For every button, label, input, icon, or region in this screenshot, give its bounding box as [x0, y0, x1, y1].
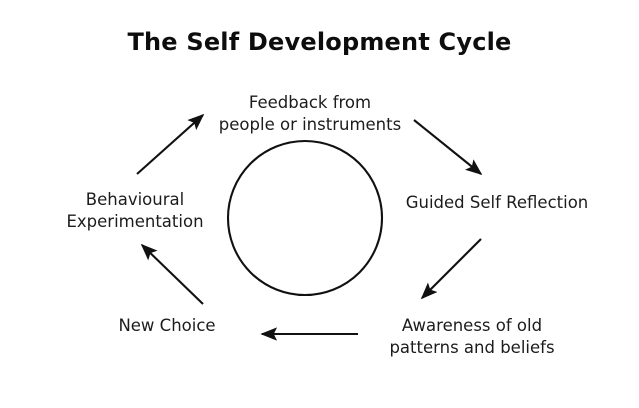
node-label-behavioural-experimentation-line1: Behavioural	[45, 189, 225, 211]
node-label-guided-self-reflection: Guided Self Reflection	[377, 192, 617, 214]
node-label-behavioural-experimentation: Behavioural Experimentation	[45, 189, 225, 233]
arrow-newchoice-to-behavioural	[142, 245, 203, 304]
center-circle	[228, 141, 382, 295]
node-label-feedback-line1: Feedback from	[160, 92, 460, 114]
node-label-awareness-line2: patterns and beliefs	[372, 337, 572, 359]
node-label-feedback-line2: people or instruments	[160, 114, 460, 136]
node-label-new-choice-line1: New Choice	[92, 315, 242, 337]
node-label-feedback: Feedback from people or instruments	[160, 92, 460, 136]
node-label-behavioural-experimentation-line2: Experimentation	[45, 211, 225, 233]
node-label-new-choice: New Choice	[92, 315, 242, 337]
arrow-guided-to-awareness	[422, 239, 481, 298]
node-label-guided-self-reflection-line1: Guided Self Reflection	[377, 192, 617, 214]
self-development-cycle-diagram: The Self Development Cycle Feedback from…	[0, 0, 639, 408]
node-label-awareness: Awareness of old patterns and beliefs	[372, 315, 572, 359]
node-label-awareness-line1: Awareness of old	[372, 315, 572, 337]
